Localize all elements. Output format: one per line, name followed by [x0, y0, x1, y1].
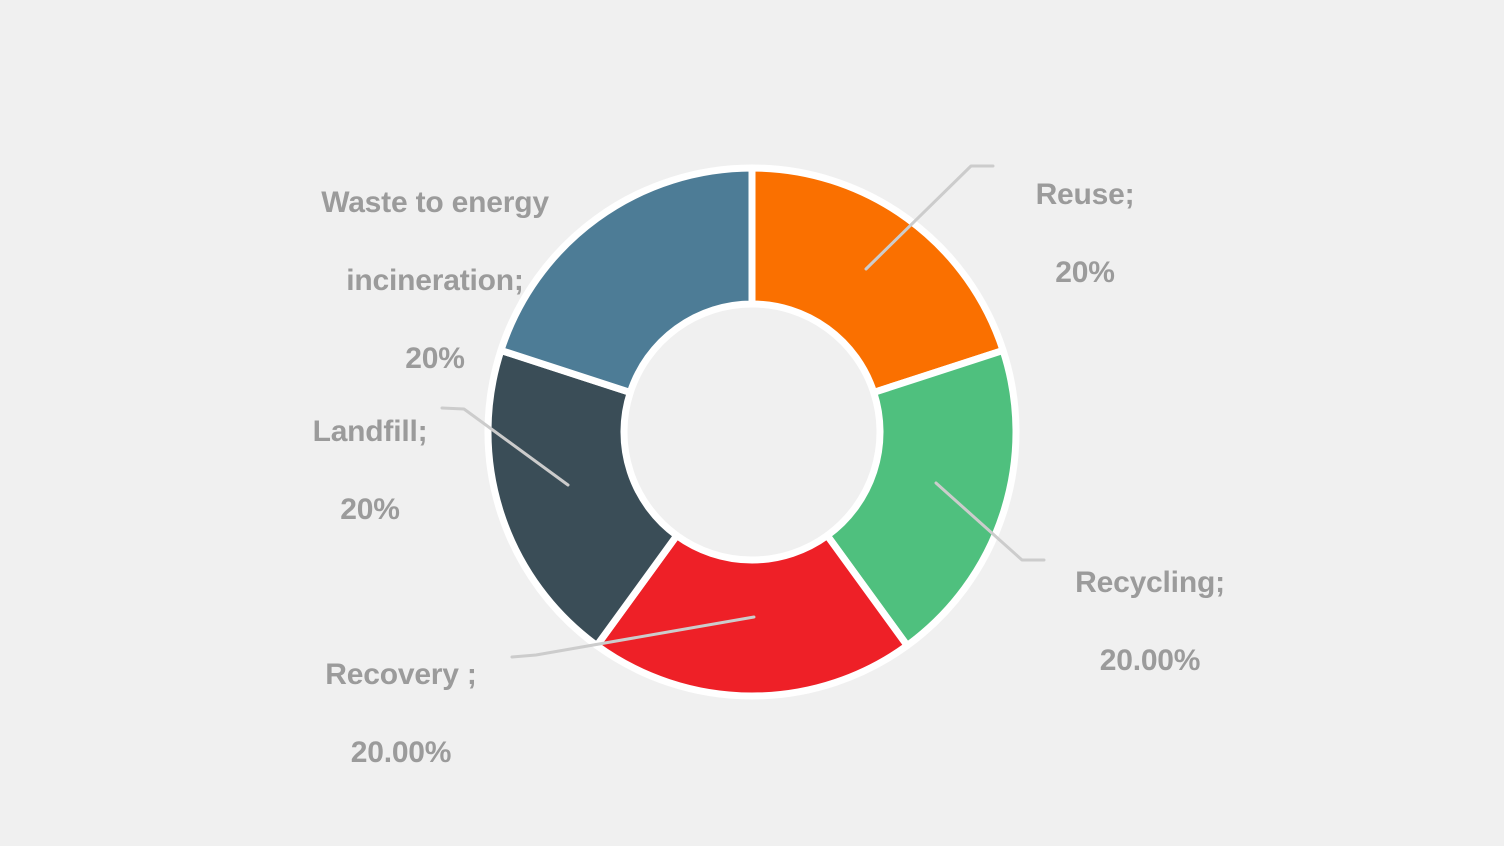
slice-label-landfill-value: 20%: [280, 490, 460, 529]
slice-reuse[interactable]: [752, 168, 1003, 392]
donut-chart-svg: [0, 0, 1504, 846]
slice-label-landfill: Landfill; 20%: [280, 373, 460, 568]
slice-label-reuse: Reuse; 20%: [985, 136, 1185, 331]
slice-label-recovery-name: Recovery ;: [286, 655, 516, 694]
slice-label-recycling-name: Recycling;: [1040, 563, 1260, 602]
slice-label-recovery-value: 20.00%: [286, 733, 516, 772]
slice-label-reuse-value: 20%: [985, 253, 1185, 292]
slice-label-waste-to-energy-incineration-line2: incineration;: [290, 261, 580, 300]
slice-label-recycling: Recycling; 20.00%: [1040, 524, 1260, 719]
slice-label-landfill-name: Landfill;: [280, 412, 460, 451]
slice-label-recovery: Recovery ; 20.00%: [286, 616, 516, 811]
donut-chart: Waste to energy incineration; 20% Reuse;…: [0, 0, 1504, 846]
slice-label-waste-to-energy-incineration-line1: Waste to energy: [290, 183, 580, 222]
slice-label-reuse-name: Reuse;: [985, 175, 1185, 214]
slice-label-recycling-value: 20.00%: [1040, 641, 1260, 680]
